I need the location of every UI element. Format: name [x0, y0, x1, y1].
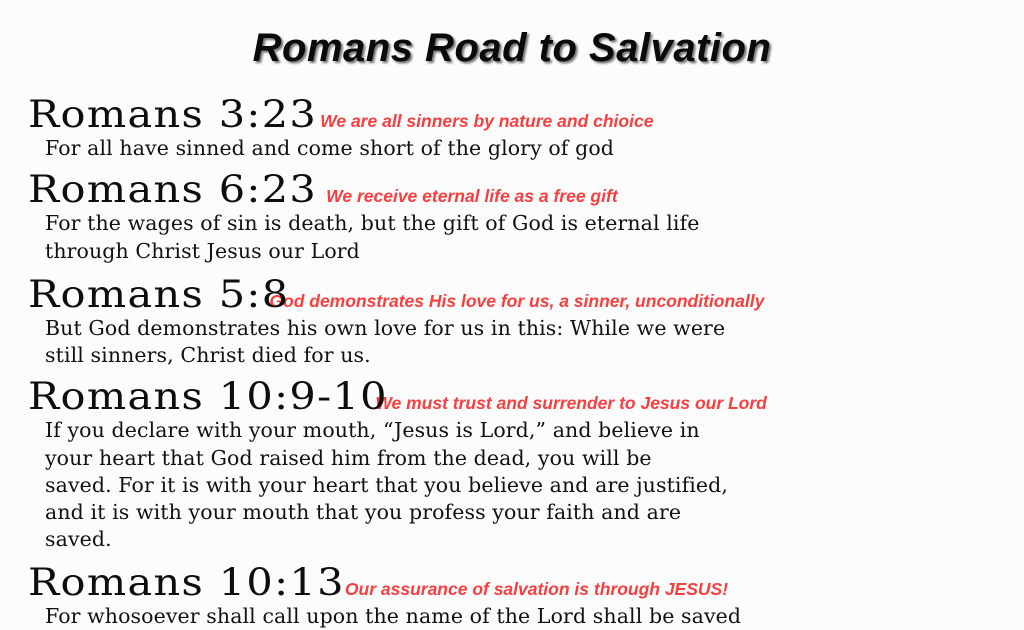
verse-body-line: For all have sinned and come short of th…: [45, 135, 984, 162]
verse-body: But God demonstrates his own love for us…: [0, 315, 1024, 370]
verse-body: For whosoever shall call upon the name o…: [0, 603, 1024, 630]
verse-list: Romans 3:23We are all sinners by nature …: [0, 96, 1024, 630]
verse-block: Romans 3:23We are all sinners by nature …: [0, 96, 1024, 162]
verse-body-line: saved.: [45, 526, 984, 553]
verse-reference: Romans 10:9-10: [28, 378, 388, 415]
verse-note: We must trust and surrender to Jesus our…: [375, 395, 767, 413]
verse-block: Romans 10:13Our assurance of salvation i…: [0, 564, 1024, 630]
verse-note: Our assurance of salvation is through JE…: [345, 581, 728, 599]
verse-body: For the wages of sin is death, but the g…: [0, 210, 1024, 265]
page-title: Romans Road to Salvation: [0, 26, 1024, 71]
verse-body-line: and it is with your mouth that you profe…: [45, 499, 984, 526]
verse-body-line: For whosoever shall call upon the name o…: [45, 603, 984, 630]
verse-block: Romans 5:8God demonstrates His love for …: [0, 276, 1024, 370]
verse-headline: Romans 3:23We are all sinners by nature …: [0, 96, 1024, 133]
verse-note: God demonstrates His love for us, a sinn…: [269, 293, 764, 311]
verse-headline: Romans 5:8God demonstrates His love for …: [0, 276, 1024, 313]
verse-note: We receive eternal life as a free gift: [326, 188, 617, 206]
verse-headline: Romans 10:9-10We must trust and surrende…: [0, 378, 1024, 415]
verse-body-line: still sinners, Christ died for us.: [45, 342, 984, 369]
verse-headline: Romans 10:13Our assurance of salvation i…: [0, 564, 1024, 601]
verse-body-line: If you declare with your mouth, “Jesus i…: [45, 417, 984, 444]
verse-reference: Romans 10:13: [28, 564, 345, 601]
verse-body: If you declare with your mouth, “Jesus i…: [0, 417, 1024, 553]
verse-headline: Romans 6:23We receive eternal life as a …: [0, 171, 1024, 208]
verse-body-line: For the wages of sin is death, but the g…: [45, 210, 984, 237]
verse-reference: Romans 6:23: [28, 171, 317, 208]
verse-block: Romans 10:9-10We must trust and surrende…: [0, 378, 1024, 553]
verse-body-line: your heart that God raised him from the …: [45, 445, 984, 472]
verse-reference: Romans 3:23: [28, 96, 317, 133]
verse-body: For all have sinned and come short of th…: [0, 135, 1024, 162]
verse-note: We are all sinners by nature and chioice: [320, 113, 653, 131]
verse-body-line: through Christ Jesus our Lord: [45, 238, 984, 265]
verse-block: Romans 6:23We receive eternal life as a …: [0, 171, 1024, 265]
poster-canvas: Romans Road to Salvation Romans 3:23We a…: [0, 0, 1024, 614]
verse-body-line: saved. For it is with your heart that yo…: [45, 472, 984, 499]
verse-body-line: But God demonstrates his own love for us…: [45, 315, 984, 342]
verse-reference: Romans 5:8: [28, 276, 289, 313]
